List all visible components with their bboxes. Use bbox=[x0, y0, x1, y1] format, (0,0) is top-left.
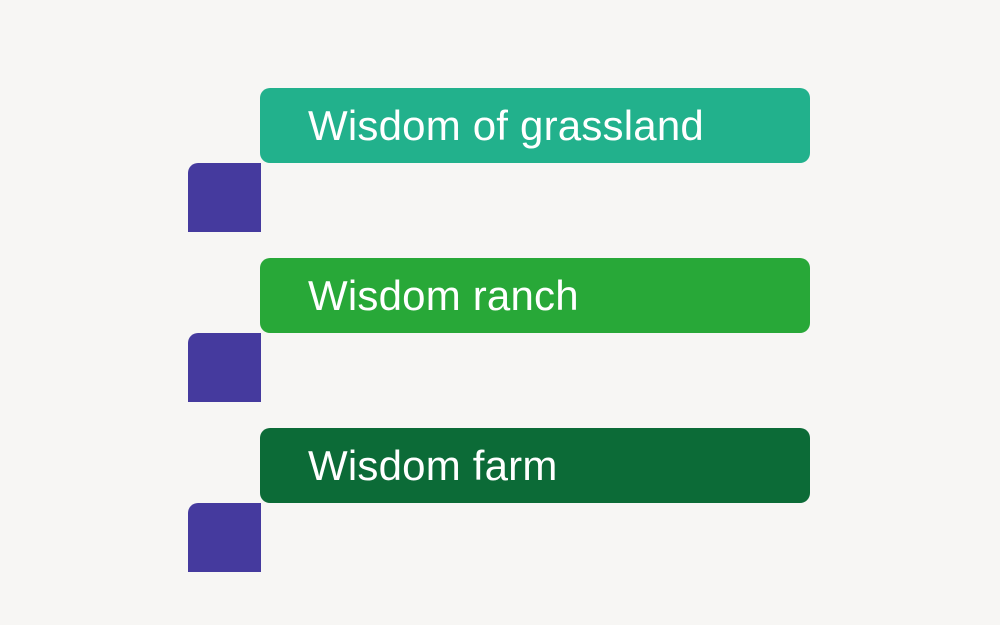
purple-tab-square-icon-3[interactable] bbox=[188, 503, 261, 572]
label-text-3: Wisdom farm bbox=[260, 445, 558, 487]
label-bar-2[interactable]: Wisdom ranch bbox=[260, 258, 810, 333]
label-bar-1[interactable]: Wisdom of grassland bbox=[260, 88, 810, 163]
label-text-1: Wisdom of grassland bbox=[260, 105, 704, 147]
purple-tab-square-icon-2[interactable] bbox=[188, 333, 261, 402]
label-bar-3[interactable]: Wisdom farm bbox=[260, 428, 810, 503]
banner-canvas: Wisdom of grassland Wisdom ranch Wisdom … bbox=[0, 0, 1000, 625]
purple-tab-square-icon-1[interactable] bbox=[188, 163, 261, 232]
label-text-2: Wisdom ranch bbox=[260, 275, 579, 317]
